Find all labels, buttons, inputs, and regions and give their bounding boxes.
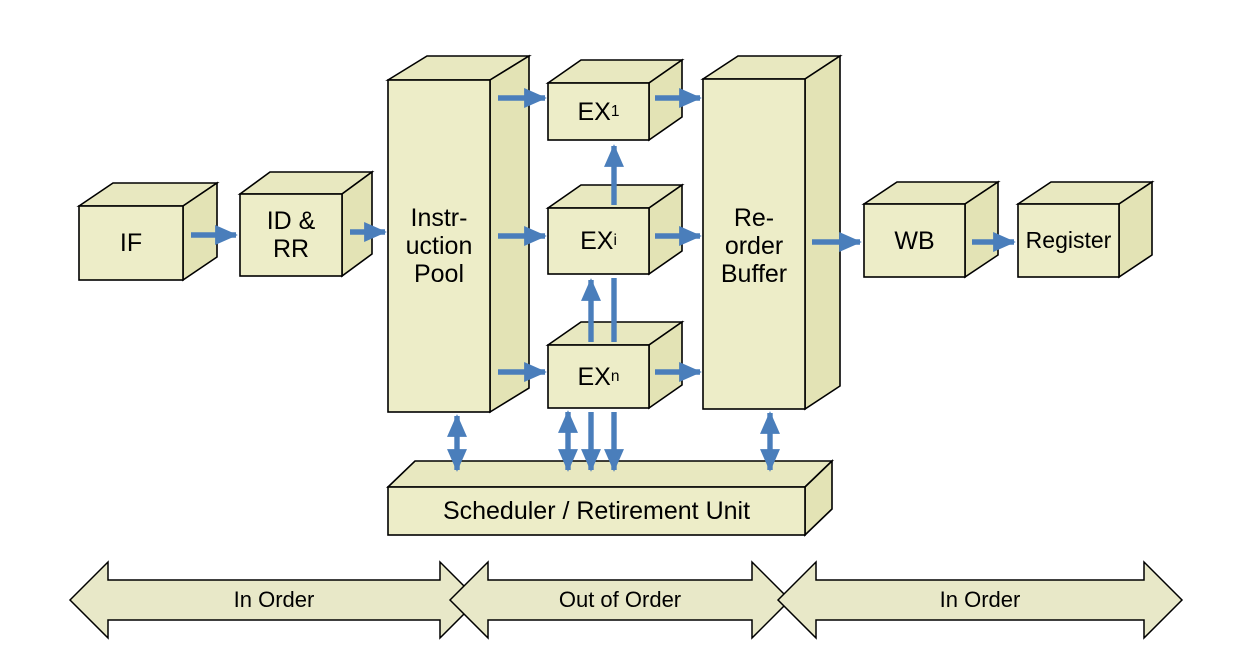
phase-band-group bbox=[70, 562, 1182, 638]
diagram-canvas: IF ID & RR Instr- uction Pool EX1 EXi EX… bbox=[0, 0, 1249, 661]
stage-box-id-rr bbox=[240, 172, 372, 276]
stage-box-reorder-buffer bbox=[703, 56, 840, 409]
stage-box-wb bbox=[864, 182, 998, 277]
phase-band-in-order-back bbox=[778, 562, 1182, 638]
stage-box-register bbox=[1018, 182, 1152, 277]
phase-band-in-order-front bbox=[70, 562, 478, 638]
phase-band-out-of-order bbox=[450, 562, 790, 638]
diagram-vector-layer bbox=[0, 0, 1249, 661]
stage-box-if bbox=[79, 183, 217, 280]
stage-box-scheduler bbox=[388, 461, 832, 535]
